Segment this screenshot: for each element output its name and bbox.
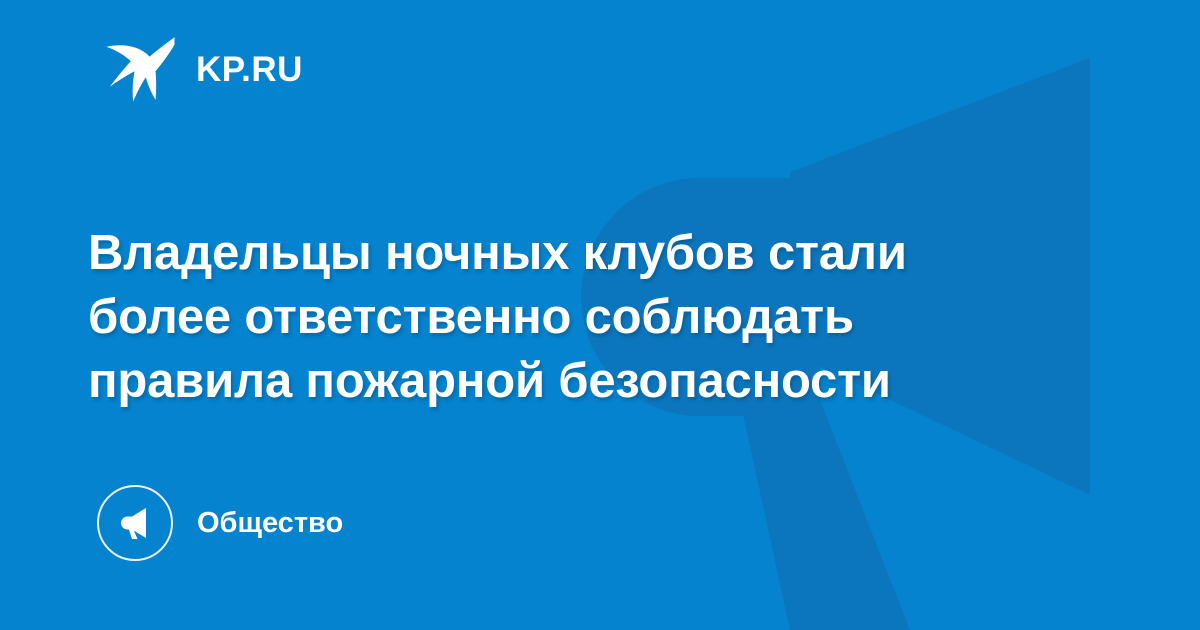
headline-line-3: правила пожарной безопасности <box>88 349 1068 413</box>
megaphone-icon <box>115 503 155 543</box>
category-tag[interactable]: Общество <box>97 485 343 561</box>
brand-name: KP.RU <box>196 52 303 87</box>
swallow-bird-logo-icon <box>104 36 178 102</box>
kp-ru-social-card: KP.RU Владельцы ночных клубов стали боле… <box>0 0 1200 630</box>
category-label: Общество <box>197 509 343 538</box>
category-badge <box>97 485 173 561</box>
brand-logo[interactable]: KP.RU <box>104 36 303 102</box>
page-title: Владельцы ночных клубов стали более отве… <box>88 221 1068 413</box>
headline-line-1: Владельцы ночных клубов стали <box>88 221 1068 285</box>
headline-line-2: более ответственно соблюдать <box>88 285 1068 349</box>
